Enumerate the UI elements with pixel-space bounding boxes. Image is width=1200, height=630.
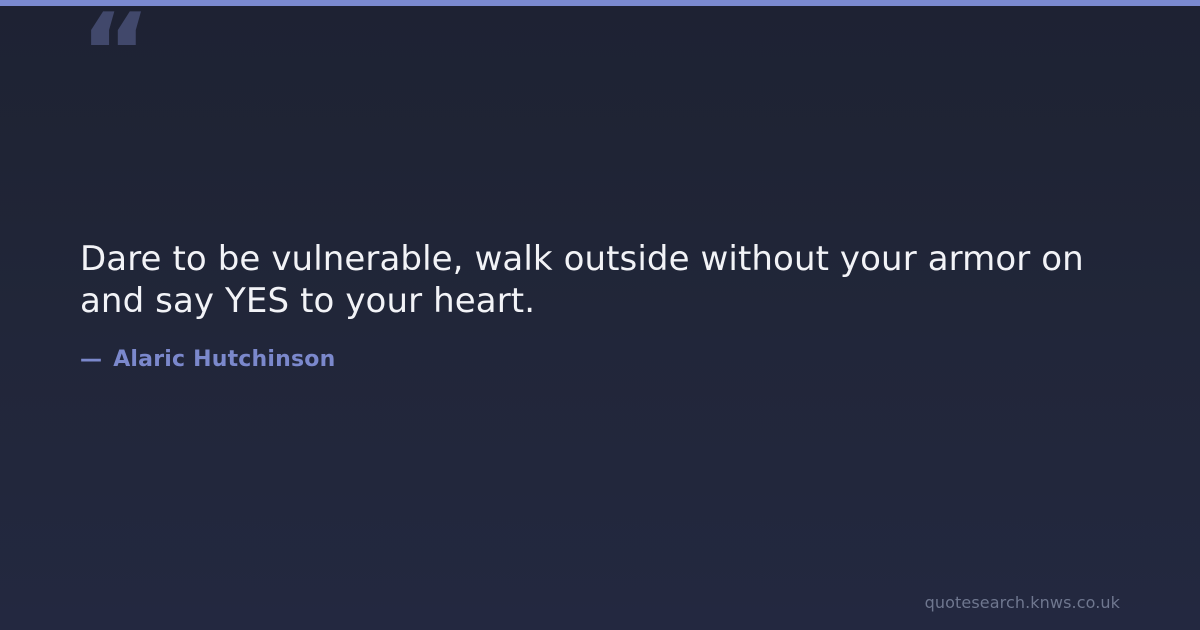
footer: quotesearch.knws.co.uk <box>925 593 1120 612</box>
attribution: — Alaric Hutchinson <box>80 346 1120 374</box>
source-url[interactable]: quotesearch.knws.co.uk <box>925 593 1120 612</box>
quote-card: “ Dare to be vulnerable, walk outside wi… <box>0 0 1200 630</box>
attribution-dash: — <box>80 346 102 374</box>
top-accent-bar <box>0 0 1200 6</box>
quote-text: Dare to be vulnerable, walk outside with… <box>80 238 1120 322</box>
quote-body: Dare to be vulnerable, walk outside with… <box>80 238 1120 374</box>
attribution-author[interactable]: Alaric Hutchinson <box>113 346 335 374</box>
open-quote-icon: “ <box>80 0 149 108</box>
